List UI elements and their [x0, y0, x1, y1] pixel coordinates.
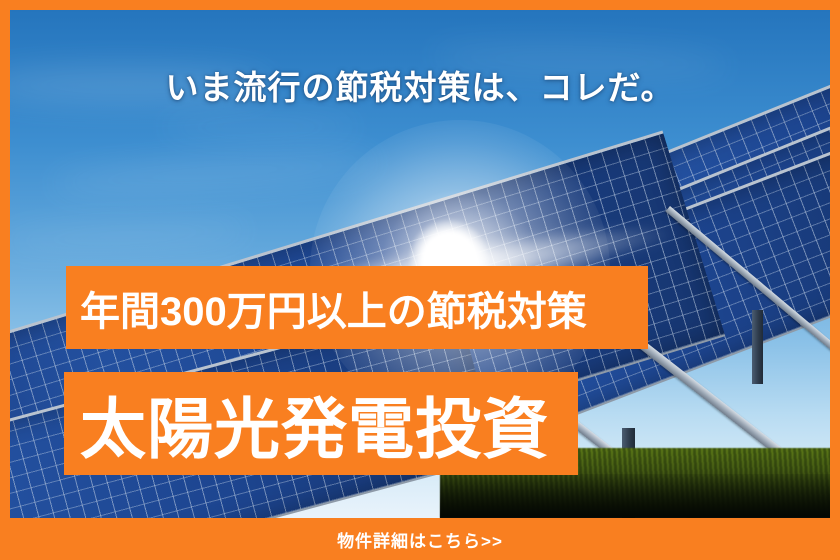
headline-text: いま流行の節税対策は、コレだ。	[0, 68, 840, 108]
cta-label: 物件詳細はこちら>>	[337, 527, 503, 552]
tagline-band-product: 太陽光発電投資	[64, 372, 578, 475]
tagline-product-label: 太陽光発電投資	[80, 376, 549, 472]
tagline-savings-label: 年間300万円以上の節税対策	[80, 279, 587, 337]
solar-investment-banner: いま流行の節税対策は、コレだ。 年間300万円以上の節税対策 太陽光発電投資 物…	[0, 0, 840, 560]
support-leg	[752, 310, 763, 384]
cta-details-button[interactable]: 物件詳細はこちら>>	[0, 518, 840, 560]
ground-shadow	[440, 474, 830, 518]
tagline-band-savings: 年間300万円以上の節税対策	[66, 266, 648, 349]
